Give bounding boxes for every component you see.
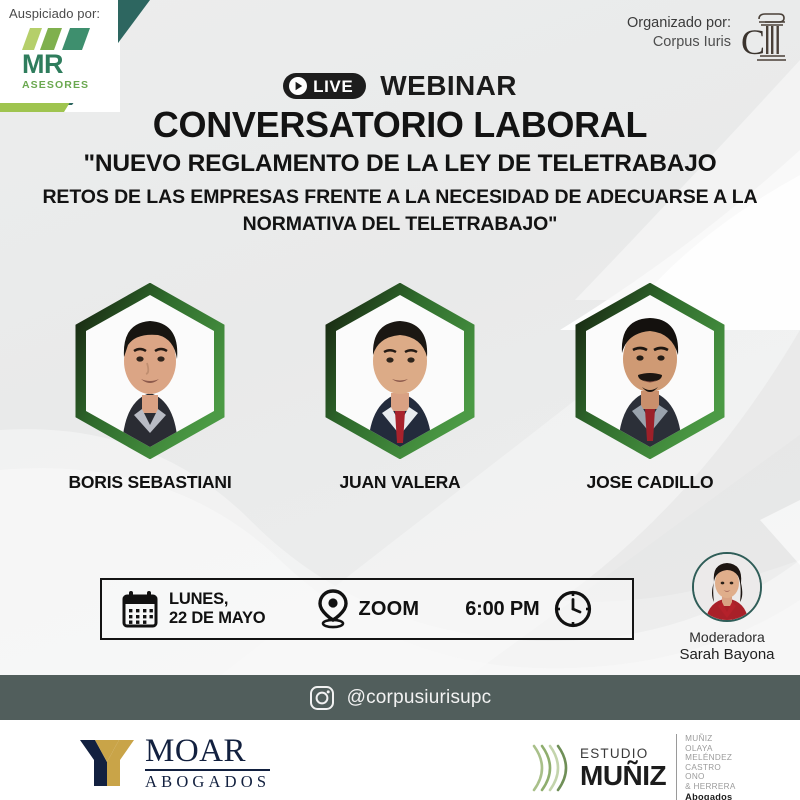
- info-place: ZOOM: [265, 589, 419, 629]
- page-title: CONVERSATORIO LABORAL: [0, 104, 800, 146]
- muniz-partner: MUÑIZ: [685, 734, 735, 744]
- muniz-partner: & HERRERA: [685, 782, 735, 792]
- muniz-partner: CASTRO: [685, 763, 735, 773]
- event-info-bar: LUNES, 22 DE MAYO ZOOM 6:00 PM: [100, 578, 634, 640]
- speaker-card: JOSE CADILLO: [561, 283, 739, 493]
- muniz-partner: MELÉNDEZ: [685, 753, 735, 763]
- moar-m-icon: [78, 738, 136, 788]
- info-date: LUNES, 22 DE MAYO: [102, 590, 265, 629]
- time-label: 6:00 PM: [465, 598, 539, 621]
- instagram-handle[interactable]: @corpusiurisupc: [347, 687, 492, 709]
- hexagon-portrait-3: [562, 283, 738, 459]
- muniz-partner: OLAYA: [685, 744, 735, 754]
- date-line-1: LUNES,: [169, 590, 265, 609]
- speaker-name: BORIS SEBASTIANI: [68, 472, 231, 493]
- moar-abogados-logo: MOAR ABOGADOS: [78, 735, 270, 791]
- clock-icon: [553, 589, 593, 629]
- muniz-top-word: ESTUDIO: [580, 747, 666, 761]
- subtitle-line-1: "NUEVO REGLAMENTO DE LA LEY DE TELETRABA…: [0, 150, 800, 178]
- muniz-partner: ONO: [685, 772, 735, 782]
- moderator-name: Sarah Bayona: [679, 646, 774, 664]
- live-label: LIVE: [313, 78, 353, 95]
- live-webinar-row: LIVE WEBINAR: [0, 70, 800, 102]
- speaker-name: JOSE CADILLO: [587, 472, 714, 493]
- speakers-row: BORIS SEBASTIANI: [0, 283, 800, 493]
- speaker-name: JUAN VALERA: [340, 472, 461, 493]
- muniz-partners-list: MUÑIZ OLAYA MELÉNDEZ CASTRO ONO & HERRER…: [676, 734, 735, 800]
- moar-name: MOAR: [145, 735, 270, 771]
- webinar-label: WEBINAR: [380, 70, 517, 102]
- speaker-photo-frame: [312, 283, 488, 459]
- footer-bar: MOAR ABOGADOS ESTUDIO MUÑIZ MUÑIZ OLAYA: [0, 720, 800, 800]
- muniz-abogados-word: Abogados: [685, 792, 735, 800]
- hexagon-portrait-2: [312, 283, 488, 459]
- moderator-role: Moderadora: [689, 629, 765, 646]
- instagram-icon[interactable]: [309, 685, 335, 711]
- estudio-muniz-logo: ESTUDIO MUÑIZ MUÑIZ OLAYA MELÉNDEZ CASTR…: [528, 734, 736, 800]
- subtitle-line-2: RETOS DE LAS EMPRESAS FRENTE A LA NECESI…: [30, 184, 770, 238]
- info-time: 6:00 PM: [419, 589, 593, 629]
- location-pin-icon: [317, 589, 349, 629]
- date-line-2: 22 DE MAYO: [169, 609, 265, 628]
- play-icon: [288, 76, 308, 96]
- organizer-label: Organizado por:: [627, 14, 731, 33]
- sponsor-label: Auspiciado por:: [9, 6, 100, 21]
- moderator-avatar: [692, 552, 762, 622]
- organizer-name: Corpus Iuris: [627, 33, 731, 52]
- social-band[interactable]: @corpusiurisupc: [0, 675, 800, 720]
- speaker-card: BORIS SEBASTIANI: [61, 283, 239, 493]
- organizer-block: Organizado por: Corpus Iuris C: [627, 10, 786, 66]
- muniz-strokes-icon: [528, 742, 570, 794]
- speaker-photo-frame: [62, 283, 238, 459]
- hexagon-portrait-1: [62, 283, 238, 459]
- moderator-portrait: [694, 554, 760, 620]
- live-badge: LIVE: [283, 73, 366, 99]
- moar-sub: ABOGADOS: [145, 774, 270, 791]
- calendar-icon: [122, 590, 158, 628]
- speaker-photo-frame: [562, 283, 738, 459]
- webinar-poster: Auspiciado por: MR ASESORES Organizado p…: [0, 0, 800, 800]
- speaker-card: JUAN VALERA: [311, 283, 489, 493]
- mr-bars-icon: [22, 28, 92, 50]
- corpus-iuris-column-icon: C: [740, 10, 786, 66]
- place-label: ZOOM: [358, 598, 419, 621]
- moderator-block: Moderadora Sarah Bayona: [667, 552, 787, 664]
- muniz-main-word: MUÑIZ: [580, 762, 666, 790]
